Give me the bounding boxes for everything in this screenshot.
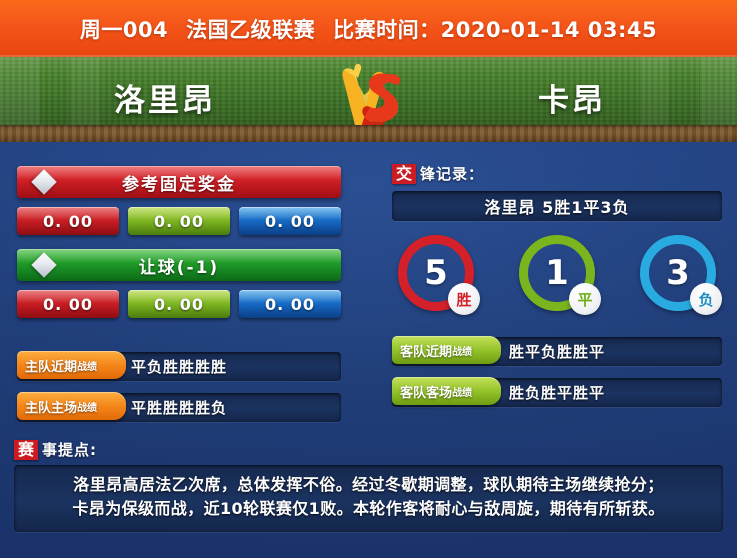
head-to-head-title: 交 锋记录： xyxy=(392,163,722,184)
handicap-odds-row: 0. 00 0. 00 0. 00 xyxy=(17,290,341,318)
pitch-banner: 洛里昂 卡昂 xyxy=(0,57,737,142)
away-recent-form-tab: 客队近期 战绩 xyxy=(392,336,501,364)
home-team-name: 洛里昂 xyxy=(0,75,330,120)
head-to-head-title-rest: 锋记录： xyxy=(420,163,484,184)
home-recent-form-tab: 主队近期 战绩 xyxy=(17,351,126,379)
match-tips-panel: 赛 事提点: 洛里昂高居法乙次席，总体发挥不俗。经过冬歇期调整，球队期待主场继续… xyxy=(14,439,723,532)
losses-badge: 负 xyxy=(690,283,722,315)
league-label: 法国乙级联赛 xyxy=(186,14,315,44)
wins-badge: 胜 xyxy=(448,283,480,315)
fixed-odds-title-bar: 参考固定奖金 xyxy=(17,166,341,198)
handicap-title: 让球(-1) xyxy=(139,253,219,278)
match-preview-page: 周一004 法国乙级联赛 比赛时间：2020-01-14 03:45 洛里昂 卡… xyxy=(0,0,737,558)
match-tips-box: 洛里昂高居法乙次席，总体发挥不俗。经过冬歇期调整，球队期待主场继续抢分； 卡昂为… xyxy=(14,465,723,532)
handicap-title-bar: 让球(-1) xyxy=(17,249,341,281)
stat-wins: 5 胜 xyxy=(398,235,474,311)
home-home-form-tab: 主队主场 战绩 xyxy=(17,392,126,420)
home-recent-form-row: 平负胜胜胜胜 主队近期 战绩 xyxy=(17,352,341,381)
fixed-odds-title: 参考固定奖金 xyxy=(122,170,236,195)
head-to-head-summary: 洛里昂 5胜1平3负 xyxy=(392,191,722,221)
head-to-head-title-chip: 交 xyxy=(392,164,416,184)
home-home-form-row: 平胜胜胜胜负 主队主场 战绩 xyxy=(17,393,341,422)
handicap-odds-draw[interactable]: 0. 00 xyxy=(128,290,230,318)
fixed-odds-away[interactable]: 0. 00 xyxy=(239,207,341,235)
match-tips-line-1: 洛里昂高居法乙次席，总体发挥不俗。经过冬歇期调整，球队期待主场继续抢分； xyxy=(24,473,713,497)
home-recent-form-tab-sub: 战绩 xyxy=(77,358,97,373)
away-recent-form-tab-main: 客队近期 xyxy=(400,341,452,360)
home-home-form-tab-sub: 战绩 xyxy=(77,399,97,414)
away-away-form-tab: 客队客场 战绩 xyxy=(392,377,501,405)
fixed-odds-home[interactable]: 0. 00 xyxy=(17,207,119,235)
away-away-form-tab-main: 客队客场 xyxy=(400,382,452,401)
match-tips-title-chip: 赛 xyxy=(14,440,38,460)
away-recent-form-tab-sub: 战绩 xyxy=(452,343,472,358)
odds-panel: 参考固定奖金 0. 00 0. 00 0. 00 让球(-1) 0. 00 0.… xyxy=(17,166,341,422)
fixed-odds-row: 0. 00 0. 00 0. 00 xyxy=(17,207,341,235)
match-time-label: 比赛时间：2020-01-14 03:45 xyxy=(333,14,657,44)
away-away-form-tab-sub: 战绩 xyxy=(452,384,472,399)
match-tips-line-2: 卡昂为保级而战，近10轮联赛仅1败。本轮作客将耐心与敌周旋，期待有所斩获。 xyxy=(24,497,713,521)
draws-badge: 平 xyxy=(569,283,601,315)
handicap-odds-home[interactable]: 0. 00 xyxy=(17,290,119,318)
match-header: 周一004 法国乙级联赛 比赛时间：2020-01-14 03:45 xyxy=(0,0,737,57)
stat-draws: 1 平 xyxy=(519,235,595,311)
match-header-text: 周一004 法国乙级联赛 比赛时间：2020-01-14 03:45 xyxy=(80,14,657,44)
match-tips-title-rest: 事提点: xyxy=(42,439,97,460)
diamond-icon xyxy=(31,169,57,195)
diamond-icon xyxy=(31,252,57,278)
round-label: 周一004 xyxy=(80,14,168,44)
handicap-odds-away[interactable]: 0. 00 xyxy=(239,290,341,318)
home-home-form-tab-main: 主队主场 xyxy=(25,397,77,416)
match-tips-title: 赛 事提点: xyxy=(14,439,723,460)
head-to-head-stats: 5 胜 1 平 3 负 xyxy=(392,235,722,311)
away-recent-form-row: 胜平负胜胜平 客队近期 战绩 xyxy=(392,337,722,366)
stat-losses: 3 负 xyxy=(640,235,716,311)
fixed-odds-draw[interactable]: 0. 00 xyxy=(128,207,230,235)
head-to-head-panel: 交 锋记录： 洛里昂 5胜1平3负 5 胜 1 平 3 负 胜平负胜胜平 xyxy=(392,163,722,407)
away-team-name: 卡昂 xyxy=(407,75,737,120)
pitch-dirt-strip xyxy=(0,125,737,142)
away-away-form-row: 胜负胜平胜平 客队客场 战绩 xyxy=(392,378,722,407)
home-recent-form-tab-main: 主队近期 xyxy=(25,356,77,375)
